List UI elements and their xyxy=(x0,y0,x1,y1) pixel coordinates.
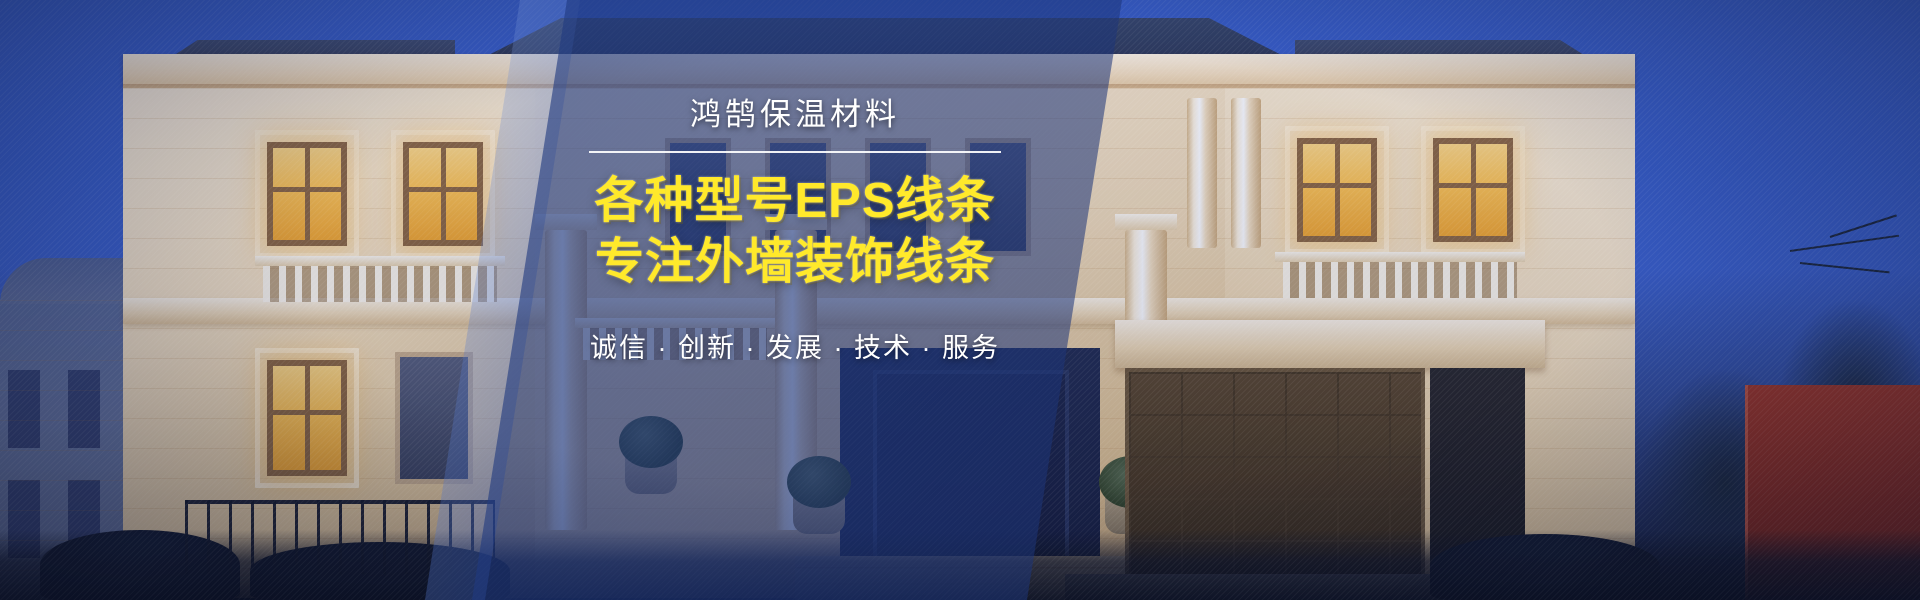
headline-line-2: 专注外墙装饰线条 xyxy=(560,234,1030,291)
hero-banner: 鸿鹄保温材料 各种型号EPS线条 专注外墙装饰线条 诚信 · 创新 · 发展 ·… xyxy=(0,0,1920,600)
brand-name: 鸿鹄保温材料 xyxy=(560,96,1030,135)
banner-copy: 鸿鹄保温材料 各种型号EPS线条 专注外墙装饰线条 诚信 · 创新 · 发展 ·… xyxy=(560,96,1030,365)
headline-line-1: 各种型号EPS线条 xyxy=(560,173,1030,230)
tagline: 诚信 · 创新 · 发展 · 技术 · 服务 xyxy=(560,326,1030,365)
divider-rule xyxy=(589,151,1001,153)
